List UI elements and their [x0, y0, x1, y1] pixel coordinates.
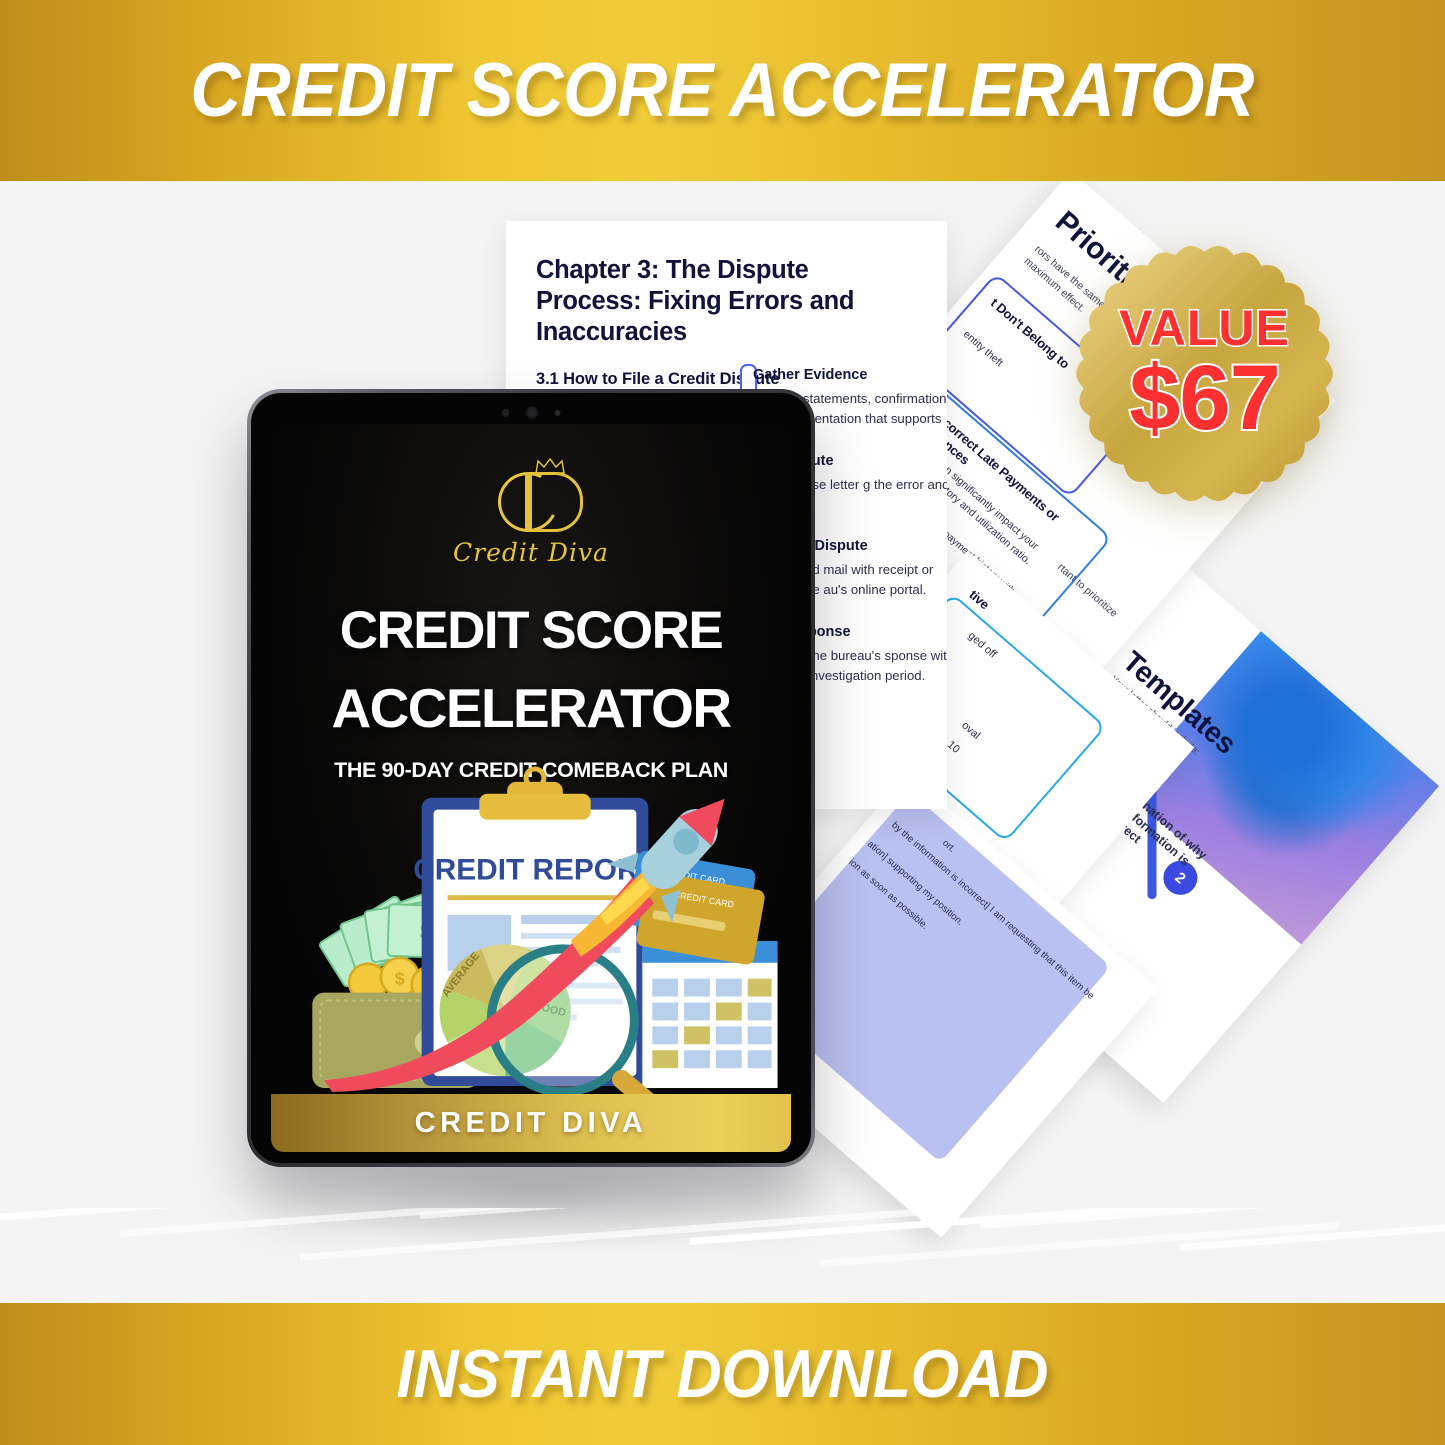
product-mockup: CREDIT SCORE ACCELERATOR Templates Your …	[0, 0, 1445, 1445]
sensor-icon	[502, 409, 510, 417]
calendar-icon	[642, 941, 777, 1088]
value-price: $67	[1129, 354, 1280, 442]
tablet-camera-row	[502, 406, 561, 419]
value-badge-text: VALUE $67	[1063, 232, 1346, 515]
cover-footer-brand-text: CREDIT DIVA	[415, 1107, 648, 1140]
bottom-banner: INSTANT DOWNLOAD	[0, 1303, 1445, 1445]
step-title: Gather Evidence	[753, 367, 947, 383]
chapter-heading: Chapter 3: The Dispute Process: Fixing E…	[536, 255, 917, 348]
header-title: CREDIT SCORE ACCELERATOR	[191, 47, 1255, 134]
light-sensor-icon	[555, 410, 561, 416]
letter-d-icon	[525, 472, 583, 532]
tablet-device: Credit Diva CREDIT SCORE ACCELERATOR THE…	[247, 389, 815, 1167]
cover-title-line-2: ACCELERATOR	[271, 676, 791, 740]
footer-title: INSTANT DOWNLOAD	[397, 1335, 1049, 1413]
credit-illustration-svg: $ $ $ $	[271, 756, 791, 1094]
ebook-cover: Credit Diva CREDIT SCORE ACCELERATOR THE…	[271, 424, 791, 1152]
cover-title-line-1: CREDIT SCORE	[271, 600, 791, 661]
clipboard-label: CREDIT REPORT	[413, 853, 656, 886]
brand-script-text: Credit Diva	[271, 538, 791, 567]
brand-logo: Credit Diva	[271, 462, 791, 567]
camera-icon	[526, 406, 539, 419]
top-banner: CREDIT SCORE ACCELERATOR	[0, 0, 1445, 181]
cover-footer-brand: CREDIT DIVA	[271, 1094, 791, 1152]
svg-text:$: $	[395, 969, 405, 989]
monogram-icon	[271, 462, 791, 532]
value-label: VALUE	[1119, 304, 1290, 352]
cover-illustration: $ $ $ $	[271, 756, 791, 1094]
value-badge: VALUE $67	[1063, 232, 1346, 515]
